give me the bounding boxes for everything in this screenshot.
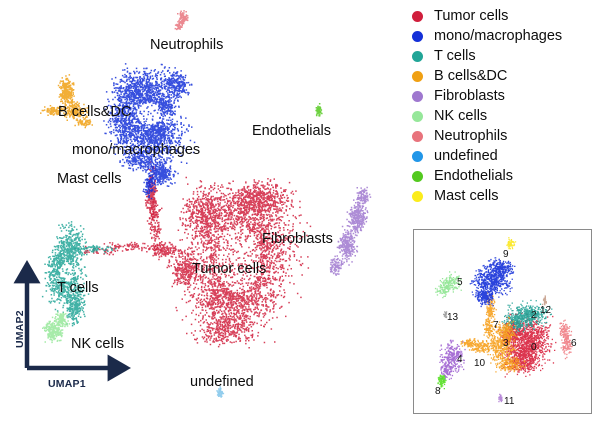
inset-cluster-number-5: 5: [457, 277, 463, 288]
inset-cluster-number-2: 2: [531, 310, 537, 321]
cluster-points-11: [498, 394, 503, 403]
cluster-label-nk-cells: NK cells: [71, 337, 124, 352]
legend-item-endothelials[interactable]: Endothelials: [412, 166, 594, 186]
point-cloud-path: [498, 394, 503, 403]
legend-item-fibroblasts[interactable]: Fibroblasts: [412, 86, 594, 106]
cluster-label-endothelials: Endothelials: [252, 124, 331, 139]
legend-item-label: Fibroblasts: [434, 88, 505, 104]
legend-swatch-dot-icon: [412, 171, 423, 182]
cluster-points-b-cells-dc: [40, 74, 93, 128]
inset-cluster-number-3: 3: [503, 338, 509, 349]
legend-item-label: undefined: [434, 148, 498, 164]
cluster-label-t-cells: T cells: [57, 281, 99, 296]
inset-cluster-number-0: 0: [531, 342, 537, 353]
inset-cluster-number-4: 4: [457, 354, 463, 365]
cluster-points-t-cells: [42, 221, 89, 326]
legend-item-label: NK cells: [434, 108, 487, 124]
point-cloud-path: [42, 221, 89, 326]
legend-item-undefined[interactable]: undefined: [412, 146, 594, 166]
cluster-label-fibroblasts: Fibroblasts: [262, 232, 333, 247]
legend-item-mast-cells[interactable]: Mast cells: [412, 186, 594, 206]
cluster-label-undefined: undefined: [190, 375, 254, 390]
cluster-label-tumor-cells: Tumor cells: [192, 262, 266, 277]
umap2-axis-label: UMAP2: [14, 310, 26, 348]
cluster-points-endothelials: [315, 103, 322, 117]
cluster-label-neutrophils: Neutrophils: [150, 38, 223, 53]
legend-swatch-dot-icon: [412, 151, 423, 162]
cluster-label-b-cells-dc: B cells&DC: [58, 105, 131, 120]
umap-figure: NeutrophilsB cells&DCEndothelialsmono/ma…: [0, 0, 600, 421]
legend-swatch-dot-icon: [412, 71, 423, 82]
legend-item-label: T cells: [434, 48, 476, 64]
cluster-inset-panel: 95121372630410811: [413, 229, 592, 414]
legend-swatch-dot-icon: [412, 91, 423, 102]
legend-item-label: mono/macrophages: [434, 28, 562, 44]
point-cloud-path: [461, 338, 496, 353]
inset-cluster-number-11: 11: [504, 396, 514, 407]
legend-item-label: Neutrophils: [434, 128, 507, 144]
cluster-label-mono-macrophages: mono/macrophages: [72, 143, 200, 158]
inset-cluster-number-6: 6: [571, 338, 577, 349]
inset-cluster-number-10: 10: [474, 358, 485, 369]
cluster-points-12: [542, 295, 547, 305]
legend-item-label: B cells&DC: [434, 68, 507, 84]
inset-cluster-number-7: 7: [493, 320, 499, 331]
cluster-points-fibroblasts: [330, 187, 371, 276]
cell-type-legend: Tumor cellsmono/macrophagesT cellsB cell…: [412, 6, 594, 206]
cluster-points-10: [461, 338, 496, 353]
inset-cluster-number-8: 8: [435, 386, 441, 397]
point-cloud-path: [315, 103, 322, 117]
legend-swatch-dot-icon: [412, 191, 423, 202]
legend-item-b-cells-dc[interactable]: B cells&DC: [412, 66, 594, 86]
umap-main-panel: NeutrophilsB cells&DCEndothelialsmono/ma…: [0, 0, 400, 421]
point-cloud-path: [175, 10, 189, 30]
inset-cluster-number-9: 9: [503, 249, 509, 260]
legend-swatch-dot-icon: [412, 51, 423, 62]
legend-item-label: Mast cells: [434, 188, 498, 204]
point-cloud-path: [145, 161, 311, 348]
cluster-points-neutrophils: [175, 10, 189, 30]
inset-cluster-number-13: 13: [447, 312, 458, 323]
umap-scatter-canvas: [0, 0, 400, 421]
point-cloud-path: [42, 312, 70, 344]
legend-item-mono-macrophages[interactable]: mono/macrophages: [412, 26, 594, 46]
legend-item-label: Endothelials: [434, 168, 513, 184]
legend-swatch-dot-icon: [412, 11, 423, 22]
legend-item-t-cells[interactable]: T cells: [412, 46, 594, 66]
inset-cluster-number-12: 12: [540, 305, 551, 316]
inset-scatter-canvas: [414, 230, 590, 412]
point-cloud-path: [542, 295, 547, 305]
point-cloud-path: [40, 74, 93, 128]
cluster-points-nk-cells: [42, 312, 70, 344]
cluster-points-tumor-cells: [145, 161, 311, 348]
cluster-label-mast-cells: Mast cells: [57, 172, 121, 187]
legend-swatch-dot-icon: [412, 131, 423, 142]
legend-swatch-dot-icon: [412, 111, 423, 122]
legend-swatch-dot-icon: [412, 31, 423, 42]
point-cloud-path: [506, 237, 516, 249]
umap1-axis-label: UMAP1: [48, 378, 86, 390]
point-cloud-path: [330, 187, 371, 276]
legend-item-neutrophils[interactable]: Neutrophils: [412, 126, 594, 146]
legend-item-tumor-cells[interactable]: Tumor cells: [412, 6, 594, 26]
cluster-points-9: [506, 237, 516, 249]
legend-item-nk-cells[interactable]: NK cells: [412, 106, 594, 126]
legend-item-label: Tumor cells: [434, 8, 508, 24]
